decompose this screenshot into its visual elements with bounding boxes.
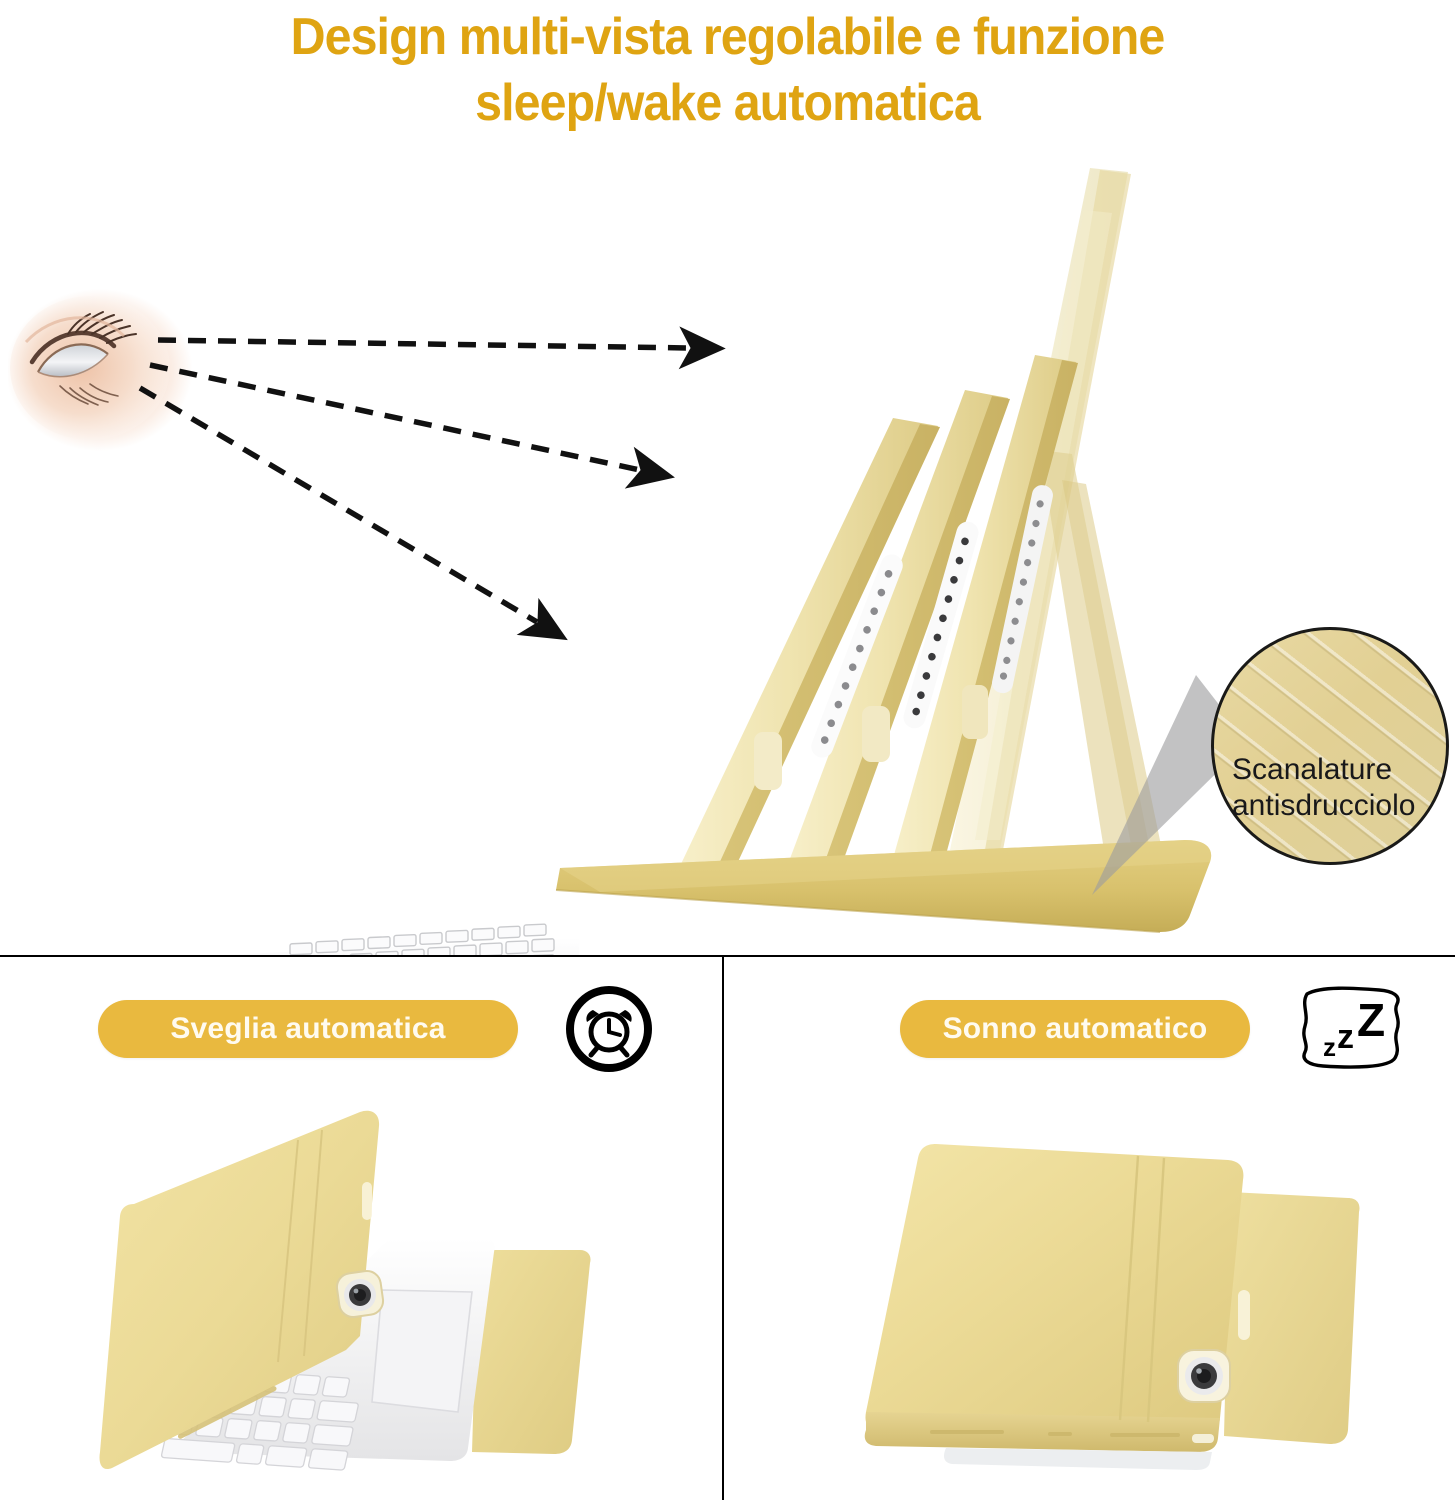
svg-text:Z: Z: [1357, 994, 1385, 1046]
product-infographic: Design multi-vista regolabile e funzione…: [0, 0, 1455, 1500]
keyboard-keys: [272, 924, 554, 955]
groove-callout-line-2: antisdrucciolo: [1232, 788, 1452, 824]
groove-magnifier: [1211, 627, 1449, 865]
page-title-line-2: sleep/wake automatica: [51, 70, 1404, 136]
svg-text:z: z: [1337, 1018, 1354, 1056]
hinge-tab-3: [962, 685, 988, 739]
hinge-tab-2: [862, 706, 890, 762]
pencil-slot: [362, 1182, 372, 1220]
page-title: Design multi-vista regolabile e funzione…: [0, 0, 1455, 136]
groove-callout-label: Scanalature antisdrucciolo: [1232, 752, 1452, 824]
vertical-divider: [722, 955, 724, 1500]
hero-multi-view-panel: [0, 150, 1455, 955]
svg-text:z: z: [1323, 1032, 1336, 1062]
badge-sonno-automatico: Sonno automatico: [900, 1000, 1250, 1058]
case-open-wake-photo: [60, 1100, 660, 1498]
page-title-line-1: Design multi-vista regolabile e funzione: [51, 4, 1404, 70]
alarm-clock-icon: [566, 986, 652, 1072]
camera-module: [1178, 1350, 1230, 1402]
case-closed-sleep-photo: [820, 1100, 1440, 1498]
pencil-slot: [1238, 1290, 1250, 1340]
horizontal-divider: [0, 955, 1455, 957]
case-bottom-edge: [865, 1412, 1220, 1452]
keyboard-assembly: [48, 924, 640, 955]
groove-callout-line-1: Scanalature: [1232, 752, 1452, 788]
trackpad: [372, 1290, 472, 1412]
hinge-tab-1: [754, 732, 782, 790]
camera-module: [335, 1269, 385, 1319]
sleep-zzz-pillow-icon: z z Z: [1293, 982, 1409, 1074]
badge-sveglia-automatica: Sveglia automatica: [98, 1000, 518, 1058]
tablet-angles-composite: [0, 150, 1455, 955]
